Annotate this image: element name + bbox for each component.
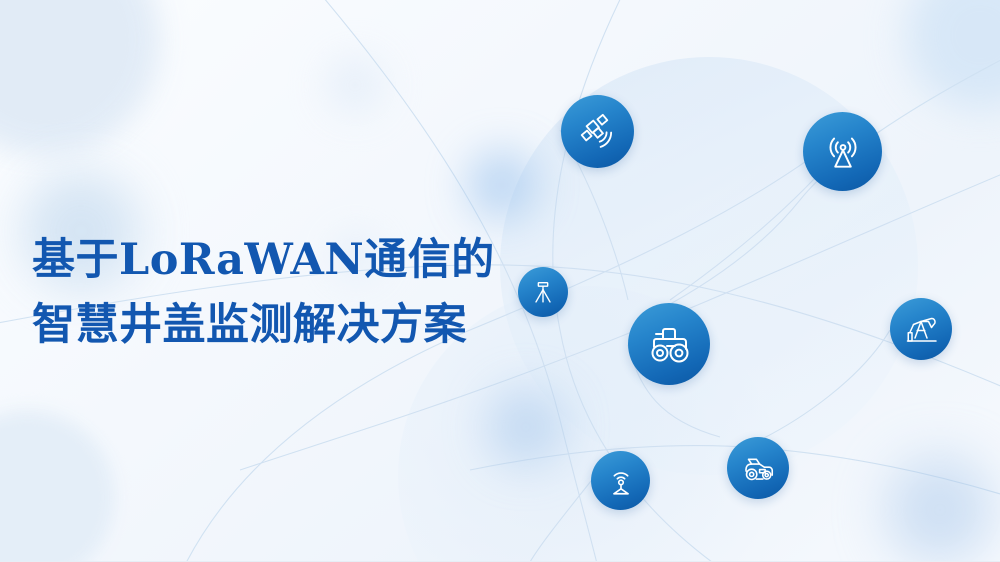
node-signal-sensor[interactable] <box>591 451 650 510</box>
slide-canvas: 基于LoRaWAN通信的 智慧井盖监测解决方案 <box>0 0 1000 562</box>
oil-pumpjack-icon <box>903 311 939 347</box>
node-survey-tripod[interactable] <box>518 267 568 317</box>
node-antenna-tower[interactable] <box>803 112 882 191</box>
signal-sensor-icon <box>604 464 638 498</box>
node-satellite[interactable] <box>561 95 634 168</box>
title-line-1: 基于LoRaWAN通信的 <box>32 228 590 293</box>
node-harvester[interactable] <box>727 437 789 499</box>
survey-tripod-icon <box>529 278 557 306</box>
harvester-icon <box>739 449 777 487</box>
satellite-icon <box>577 111 619 153</box>
slide-title: 基于LoRaWAN通信的 智慧井盖监测解决方案 <box>30 228 590 359</box>
antenna-tower-icon <box>821 130 865 174</box>
node-tractor[interactable] <box>628 303 710 385</box>
tractor-icon <box>645 320 693 368</box>
node-oil-pumpjack[interactable] <box>890 298 952 360</box>
title-line-2: 智慧井盖监测解决方案 <box>32 293 590 358</box>
